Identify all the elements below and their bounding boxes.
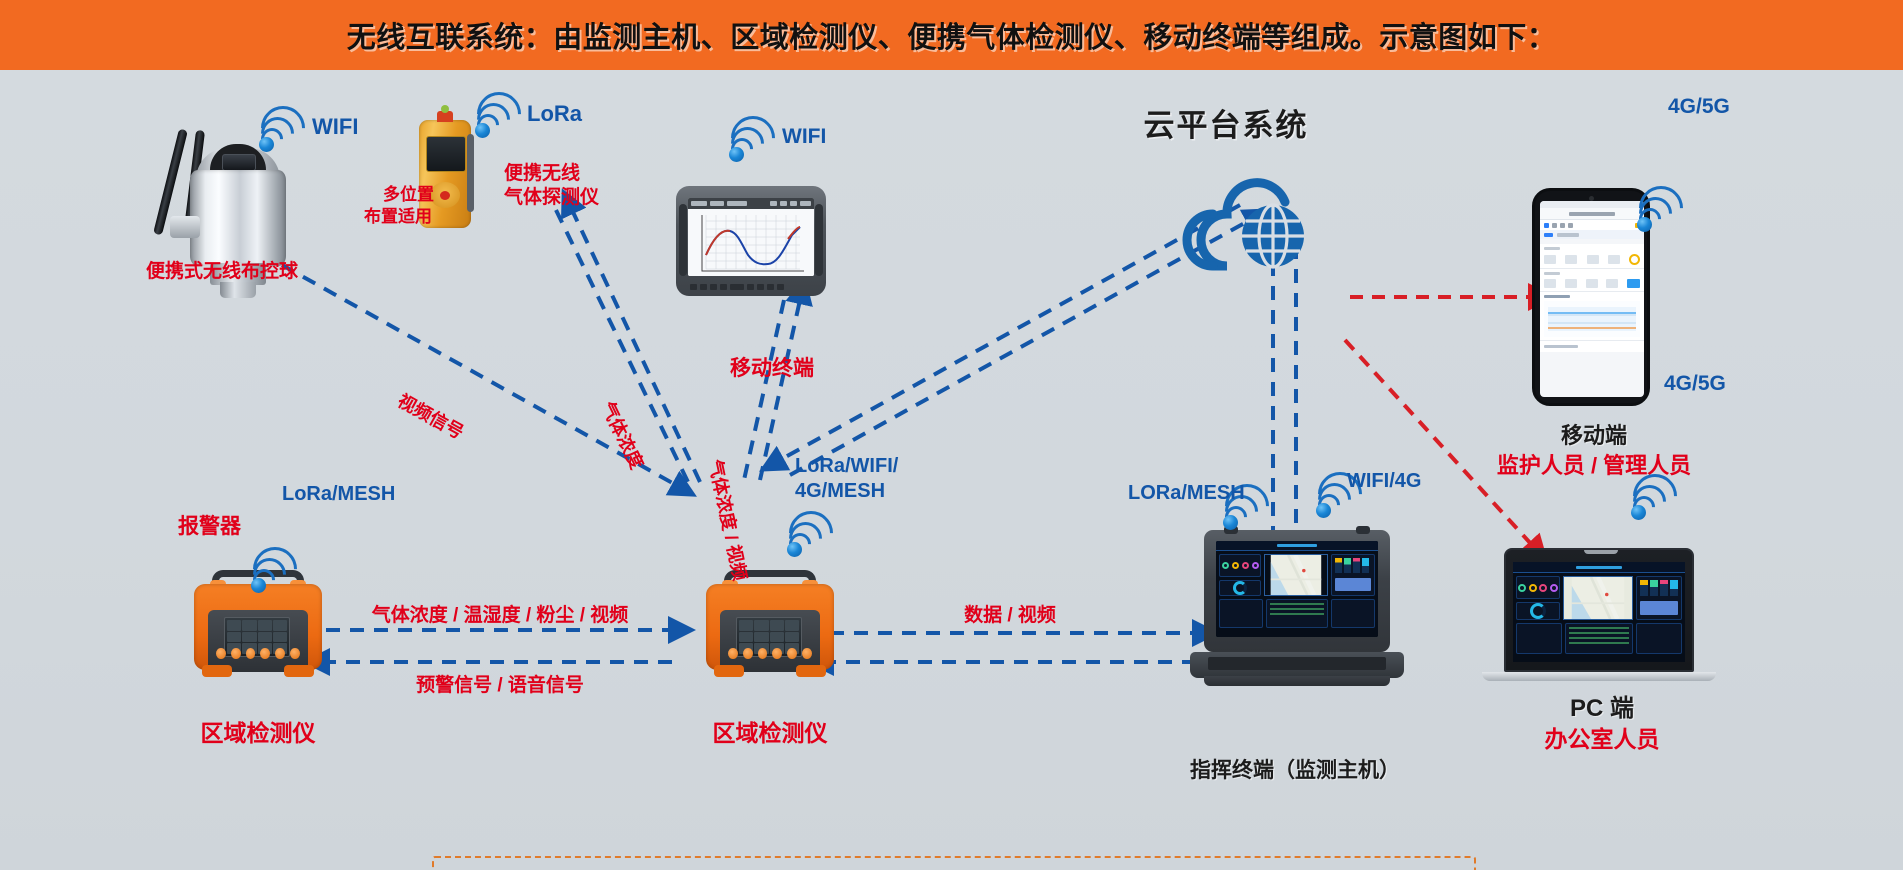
link-label-alarm-to-hub-bottom: 预警信号 / 语音信号 xyxy=(416,670,584,697)
detector-foot-left xyxy=(202,665,232,677)
wire-cloud-to-hub xyxy=(780,205,1240,460)
detector-case xyxy=(706,584,834,670)
gas-detector-signal-label: LoRa xyxy=(527,101,582,127)
gas-detector-label-line1: 便携无线 xyxy=(504,158,580,185)
command-signal-left-label: LORa/MESH xyxy=(1128,482,1245,505)
camera-body xyxy=(190,170,286,266)
alarm-label: 报警器 xyxy=(178,510,241,540)
command-base xyxy=(1190,652,1404,678)
pc-screen[interactable] xyxy=(1513,562,1685,662)
tablet-grip-left xyxy=(679,204,687,276)
pc-dashboard xyxy=(1513,562,1685,662)
phone-signal-label: 4G/5G xyxy=(1668,95,1730,119)
device-area-detector-hub xyxy=(706,570,834,674)
wifi-icon xyxy=(728,122,774,162)
detector-control-knobs[interactable] xyxy=(728,647,812,660)
cloud-platform-title: 云平台系统 xyxy=(1144,100,1309,145)
pc-label-red: 办公室人员 xyxy=(1545,720,1660,754)
camera-antenna-mount xyxy=(170,216,200,238)
hub-signal-label-line2: 4G/MESH xyxy=(795,480,885,503)
pc-lid xyxy=(1504,548,1694,672)
pc-base xyxy=(1482,672,1716,681)
phone-screen[interactable] xyxy=(1540,201,1644,397)
wifi-icon xyxy=(250,553,296,593)
system-architecture-diagram: 无线互联系统：由监测主机、区域检测仪、便携气体检测仪、移动终端等组成。示意图如下… xyxy=(0,0,1903,870)
camera-neck xyxy=(220,282,256,298)
detector-control-knobs[interactable] xyxy=(216,647,300,660)
wifi-icon xyxy=(258,112,304,152)
command-screen[interactable] xyxy=(1216,541,1378,637)
device-command-terminal xyxy=(1190,530,1410,690)
tablet-chart xyxy=(688,209,814,276)
link-label-hub-to-command: 数据 / 视频 xyxy=(964,600,1056,627)
detector-foot-right xyxy=(284,665,314,677)
gas-sensor-tip xyxy=(441,105,449,113)
alarm-detector-signal-label: LoRa/MESH xyxy=(282,483,395,506)
wifi-icon xyxy=(786,517,832,557)
gas-detector-note-line2: 布置适用 xyxy=(364,202,432,227)
cloud-globe-icon xyxy=(1175,158,1335,278)
tablet-grip-right xyxy=(815,204,823,276)
diagram-title: 无线互联系统：由监测主机、区域检测仪、便携气体检测仪、移动终端等组成。示意图如下… xyxy=(347,14,1557,56)
wifi-icon xyxy=(1636,192,1682,232)
detector-foot-right xyxy=(796,665,826,677)
key-technology-box: 关键技术：物联网、自组网、视频识别、无线互联、远程通讯 GPS/ 北斗定位等技术 xyxy=(432,856,1476,870)
camera-ball-label: 便携式无线布控球 xyxy=(146,256,298,283)
diagram-canvas: WIFI 便携式无线布控球 LoRa 便携无线 气体探测仪 多位置 布置适用 xyxy=(0,70,1903,870)
gas-detector-label-line2: 气体探测仪 xyxy=(504,182,599,209)
wire-cloud-to-pc xyxy=(1345,340,1532,545)
command-terminal-label: 指挥终端（监测主机） xyxy=(1190,754,1400,784)
gas-detector-clip xyxy=(467,134,474,212)
command-dashboard xyxy=(1216,541,1378,637)
gas-detector-screen xyxy=(426,136,466,172)
wifi-icon xyxy=(474,98,520,138)
command-signal-right-label: WIFI/4G xyxy=(1347,470,1421,493)
device-pc-laptop xyxy=(1482,548,1722,688)
camera-ball-signal-label: WIFI xyxy=(312,114,358,140)
area-detector-left-label: 区域检测仪 xyxy=(201,714,316,748)
pc-notch xyxy=(1584,550,1618,554)
command-lid xyxy=(1204,530,1390,652)
pc-signal-label: 4G/5G xyxy=(1664,372,1726,396)
detector-case xyxy=(194,584,322,670)
link-label-alarm-to-hub-top: 气体浓度 / 温湿度 / 粉尘 / 视频 xyxy=(372,600,629,627)
detector-foot-left xyxy=(714,665,744,677)
mobile-terminal-label: 移动终端 xyxy=(730,352,814,382)
diagram-header-banner: 无线互联系统：由监测主机、区域检测仪、便携气体检测仪、移动终端等组成。示意图如下… xyxy=(0,0,1903,70)
hub-signal-label-line1: LoRa/WIFI/ xyxy=(795,455,898,478)
device-mobile-terminal xyxy=(676,186,836,306)
wifi-icon xyxy=(1630,480,1676,520)
phone-label-black: 移动端 xyxy=(1561,418,1627,450)
area-detector-hub-label: 区域检测仪 xyxy=(713,714,828,748)
camera-lens-glass xyxy=(222,154,256,171)
phone-body xyxy=(1532,188,1650,406)
tablet-screen[interactable] xyxy=(688,198,814,276)
tablet-status-bar xyxy=(688,198,814,209)
pc-label-black: PC 端 xyxy=(1570,688,1634,723)
tablet-body xyxy=(676,186,826,296)
tablet-button-row[interactable] xyxy=(690,283,812,291)
mobile-terminal-signal-label: WIFI xyxy=(782,125,826,149)
gas-detector-power-button xyxy=(440,191,450,200)
command-keyboard[interactable] xyxy=(1208,657,1386,670)
